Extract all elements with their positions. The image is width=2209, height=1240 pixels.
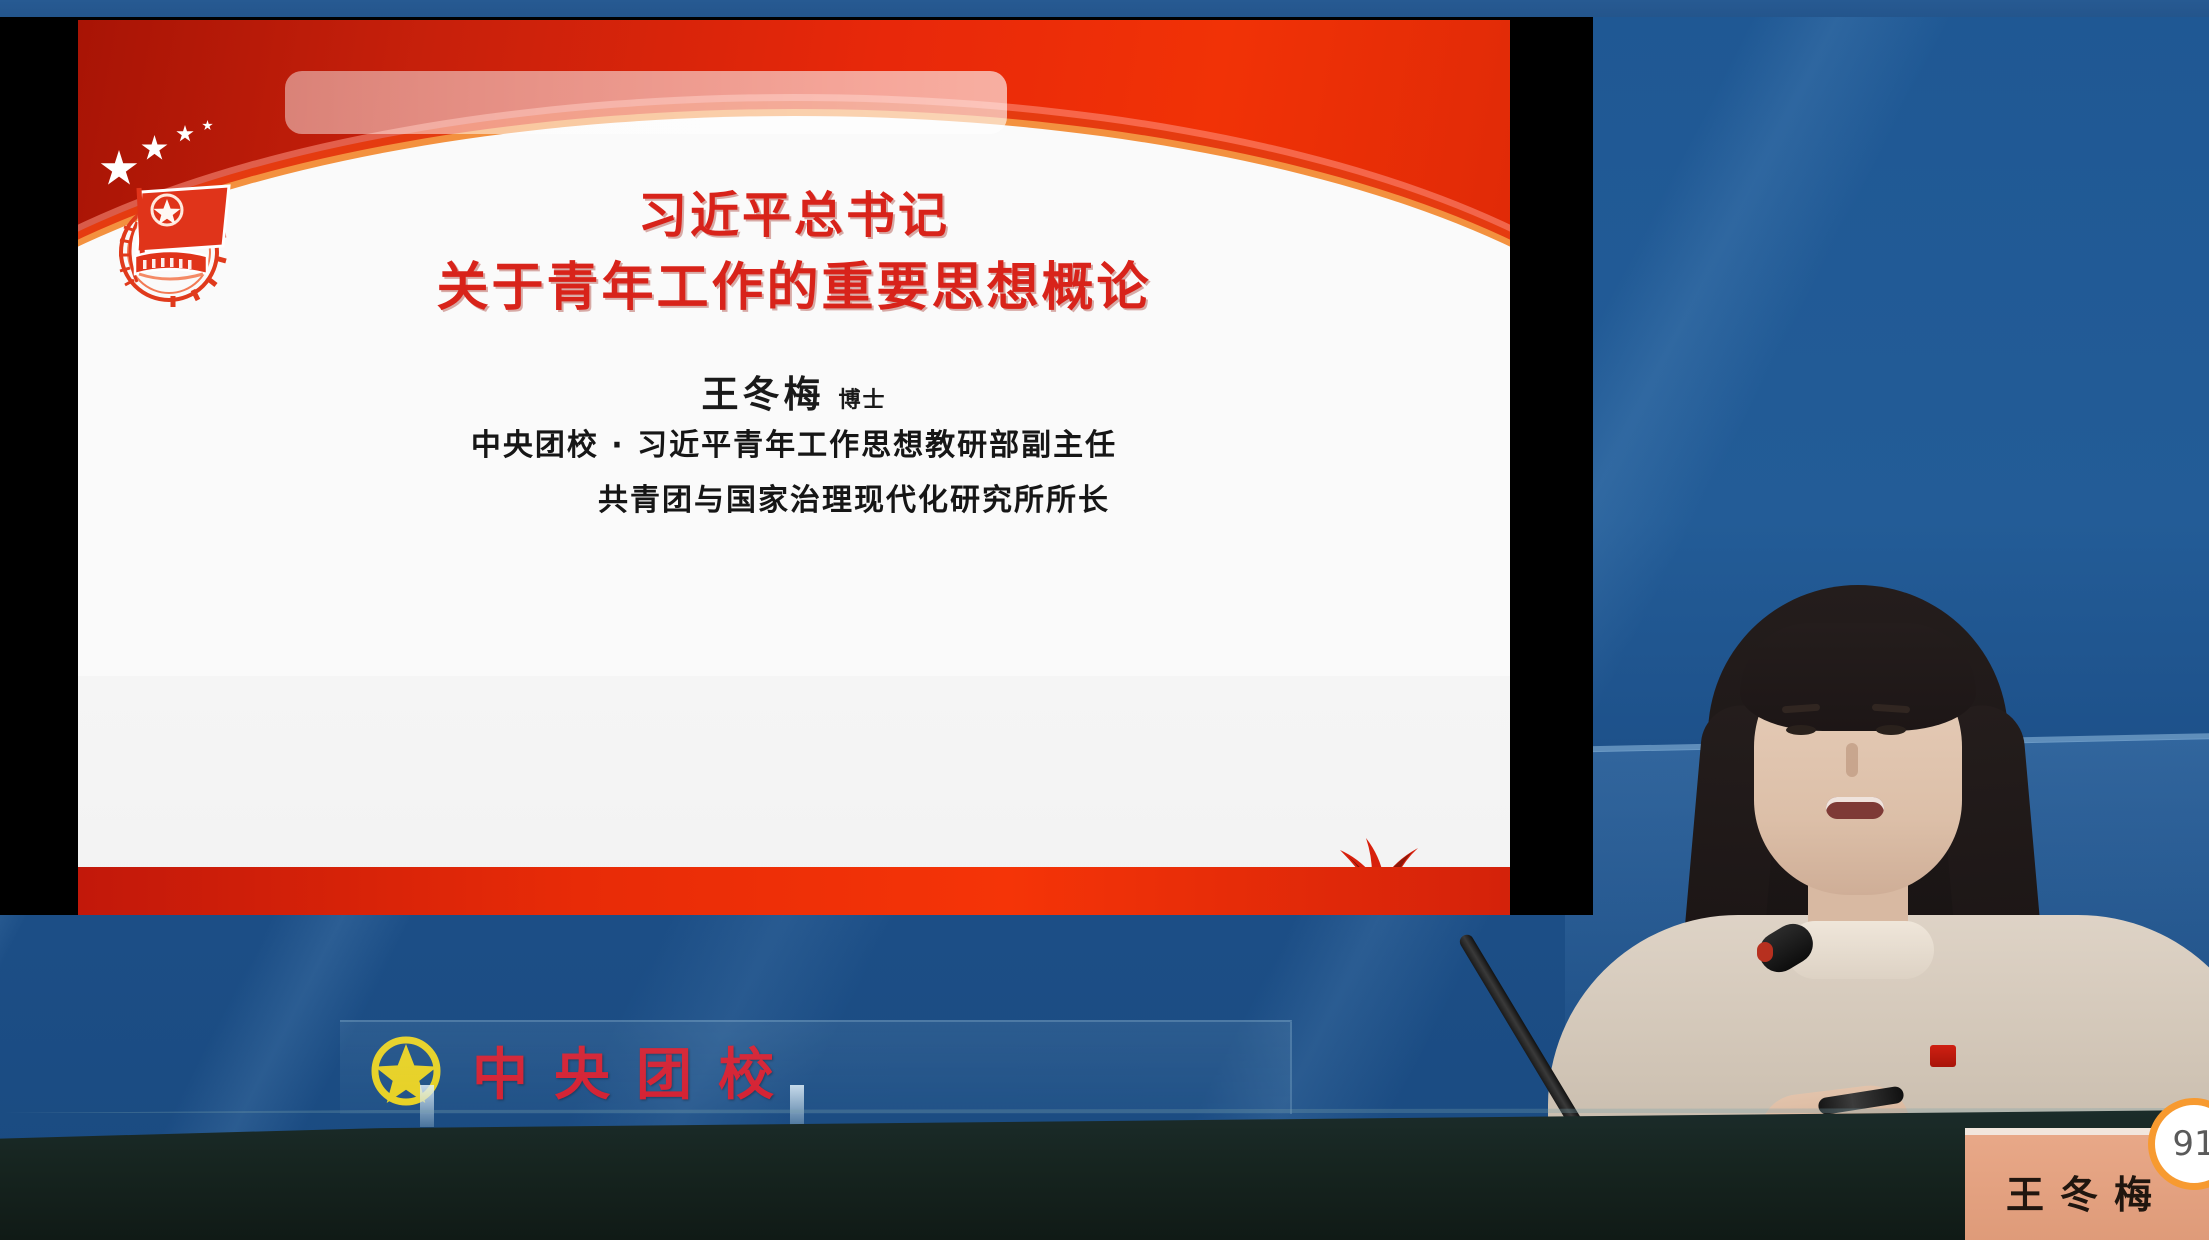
presentation-slide[interactable]: 习近平总书记 关于青年工作的重要思想概论 王冬梅博士 中央团校 · 习近平青年工…	[78, 20, 1510, 915]
acrylic-panel-foot	[420, 1085, 434, 1127]
slide-speaker-degree: 博士	[838, 388, 886, 413]
speaker-mouth	[1826, 797, 1884, 819]
slide-title-line-2: 关于青年工作的重要思想概论	[78, 252, 1510, 324]
lecture-desk	[0, 1110, 2209, 1240]
header-title-plate	[285, 71, 1007, 134]
speaker-figure	[1668, 585, 2138, 1145]
acrylic-panel	[340, 1020, 1292, 1114]
slide-speaker-line: 王冬梅博士	[78, 364, 1510, 418]
speaker-eye-right	[1876, 725, 1906, 735]
speaker-eye-left	[1786, 725, 1816, 735]
video-stage: 习近平总书记 关于青年工作的重要思想概论 王冬梅博士 中央团校 · 习近平青年工…	[0, 0, 2209, 1240]
acrylic-panel-foot	[790, 1085, 804, 1127]
speaker-fringe	[1740, 623, 1976, 731]
speaker-nose	[1846, 743, 1858, 777]
slide-speaker-name: 王冬梅	[701, 373, 824, 416]
slide-title-line-1: 习近平总书记	[78, 180, 1510, 252]
microphone-red-ring	[1757, 942, 1773, 962]
slide-speaker-role-2: 共青团与国家治理现代化研究所所长	[78, 475, 1510, 519]
slide-red-footer	[78, 867, 1510, 915]
party-emblem-pin-icon	[1930, 1045, 1956, 1067]
top-blue-strip	[0, 0, 2209, 17]
slide-speaker-role-1: 中央团校 · 习近平青年工作思想教研部副主任	[78, 420, 1510, 464]
slide-title: 习近平总书记 关于青年工作的重要思想概论	[78, 180, 1510, 324]
